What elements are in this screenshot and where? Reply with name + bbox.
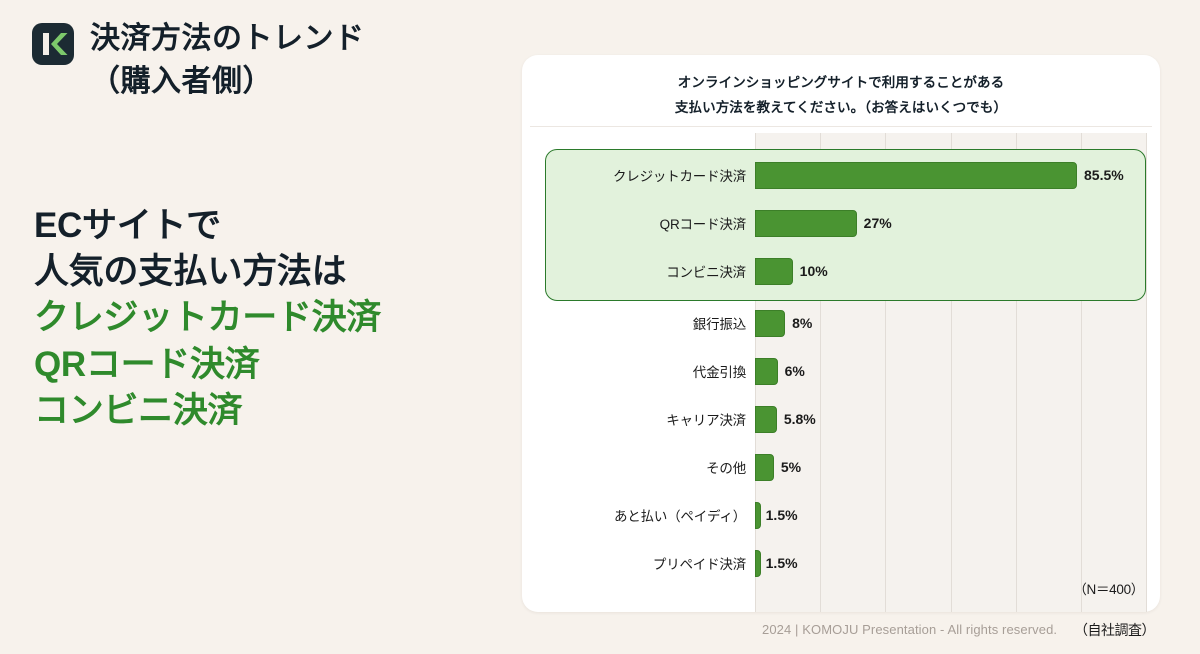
sample-size-note: （N＝400） xyxy=(1073,578,1144,598)
bar xyxy=(755,550,761,577)
bar-value-label: 5.8% xyxy=(784,411,816,427)
lede-highlight-konbini: コンビニ決済 xyxy=(34,388,494,434)
page-title-line1: 決済方法のトレンド xyxy=(90,22,365,55)
lede-highlight-qr-code: QRコード決済 xyxy=(34,342,494,388)
bar-category-label: 銀行振込 xyxy=(522,313,755,333)
bar-value-label: 27% xyxy=(864,215,892,231)
komoju-logo-icon xyxy=(32,23,74,65)
bar-wrap: 5% xyxy=(755,454,801,481)
bar-wrap: 8% xyxy=(755,310,812,337)
chart-title-line2: 支払い方法を教えてください。（お答えはいくつでも） xyxy=(522,96,1160,121)
footer-credit: 2024 | KOMOJU Presentation - All rights … xyxy=(762,622,1057,637)
bar-row: クレジットカード決済85.5% xyxy=(522,155,1160,195)
bar-row: あと払い（ペイディ）1.5% xyxy=(522,495,1160,535)
bar-category-label: その他 xyxy=(522,457,755,477)
bar-category-label: コンビニ決済 xyxy=(522,261,755,281)
chart-card: オンラインショッピングサイトで利用することがある 支払い方法を教えてください。（… xyxy=(522,55,1160,612)
bar-wrap: 85.5% xyxy=(755,162,1124,189)
bar-row: QRコード決済27% xyxy=(522,203,1160,243)
lede-line-2: 人気の支払い方法は xyxy=(34,249,494,295)
bar-row: その他5% xyxy=(522,447,1160,487)
bar-value-label: 5% xyxy=(781,459,801,475)
bar-value-label: 85.5% xyxy=(1084,167,1124,183)
bar-chart-plot: クレジットカード決済85.5%QRコード決済27%コンビニ決済10%銀行振込8%… xyxy=(522,133,1160,612)
bar xyxy=(755,358,778,385)
lede-highlight-credit-card: クレジットカード決済 xyxy=(34,295,494,341)
bar-wrap: 27% xyxy=(755,210,892,237)
bar-row: 代金引換6% xyxy=(522,351,1160,391)
bar-wrap: 10% xyxy=(755,258,828,285)
chart-title: オンラインショッピングサイトで利用することがある 支払い方法を教えてください。（… xyxy=(522,71,1160,121)
bar-value-label: 1.5% xyxy=(766,555,798,571)
bar-row: プリペイド決済1.5% xyxy=(522,543,1160,583)
bar xyxy=(755,162,1077,189)
bar-category-label: クレジットカード決済 xyxy=(522,165,755,185)
bar-category-label: あと払い（ペイディ） xyxy=(522,505,755,525)
bar-row: キャリア決済5.8% xyxy=(522,399,1160,439)
lede-text-block: ECサイトで 人気の支払い方法は クレジットカード決済 QRコード決済 コンビニ… xyxy=(34,203,494,434)
bar xyxy=(755,454,774,481)
bar-wrap: 1.5% xyxy=(755,502,798,529)
bar-category-label: 代金引換 xyxy=(522,361,755,381)
bar-row: コンビニ決済10% xyxy=(522,251,1160,291)
bar-category-label: QRコード決済 xyxy=(522,213,755,233)
lede-line-1: ECサイトで xyxy=(34,203,494,249)
bar-category-label: プリペイド決済 xyxy=(522,553,755,573)
chart-title-line1: オンラインショッピングサイトで利用することがある xyxy=(522,71,1160,96)
bar xyxy=(755,406,777,433)
bar-value-label: 8% xyxy=(792,315,812,331)
bar xyxy=(755,502,761,529)
bar-value-label: 6% xyxy=(785,363,805,379)
title-divider xyxy=(530,126,1152,127)
bar xyxy=(755,258,793,285)
bar-category-label: キャリア決済 xyxy=(522,409,755,429)
bar xyxy=(755,210,857,237)
bar xyxy=(755,310,785,337)
left-panel: 決済方法のトレンド （購入者側） ECサイトで 人気の支払い方法は クレジットカ… xyxy=(0,0,510,654)
bar-row: 銀行振込8% xyxy=(522,303,1160,343)
bar-wrap: 1.5% xyxy=(755,550,798,577)
page-title: 決済方法のトレンド （購入者側） xyxy=(90,18,482,103)
bar-value-label: 10% xyxy=(800,263,828,279)
slide-title-row: 決済方法のトレンド （購入者側） xyxy=(32,18,482,103)
bar-wrap: 5.8% xyxy=(755,406,816,433)
bar-wrap: 6% xyxy=(755,358,805,385)
bar-value-label: 1.5% xyxy=(766,507,798,523)
source-note: （自社調査） xyxy=(1074,620,1155,640)
page-title-line2: （購入者側） xyxy=(90,61,482,104)
